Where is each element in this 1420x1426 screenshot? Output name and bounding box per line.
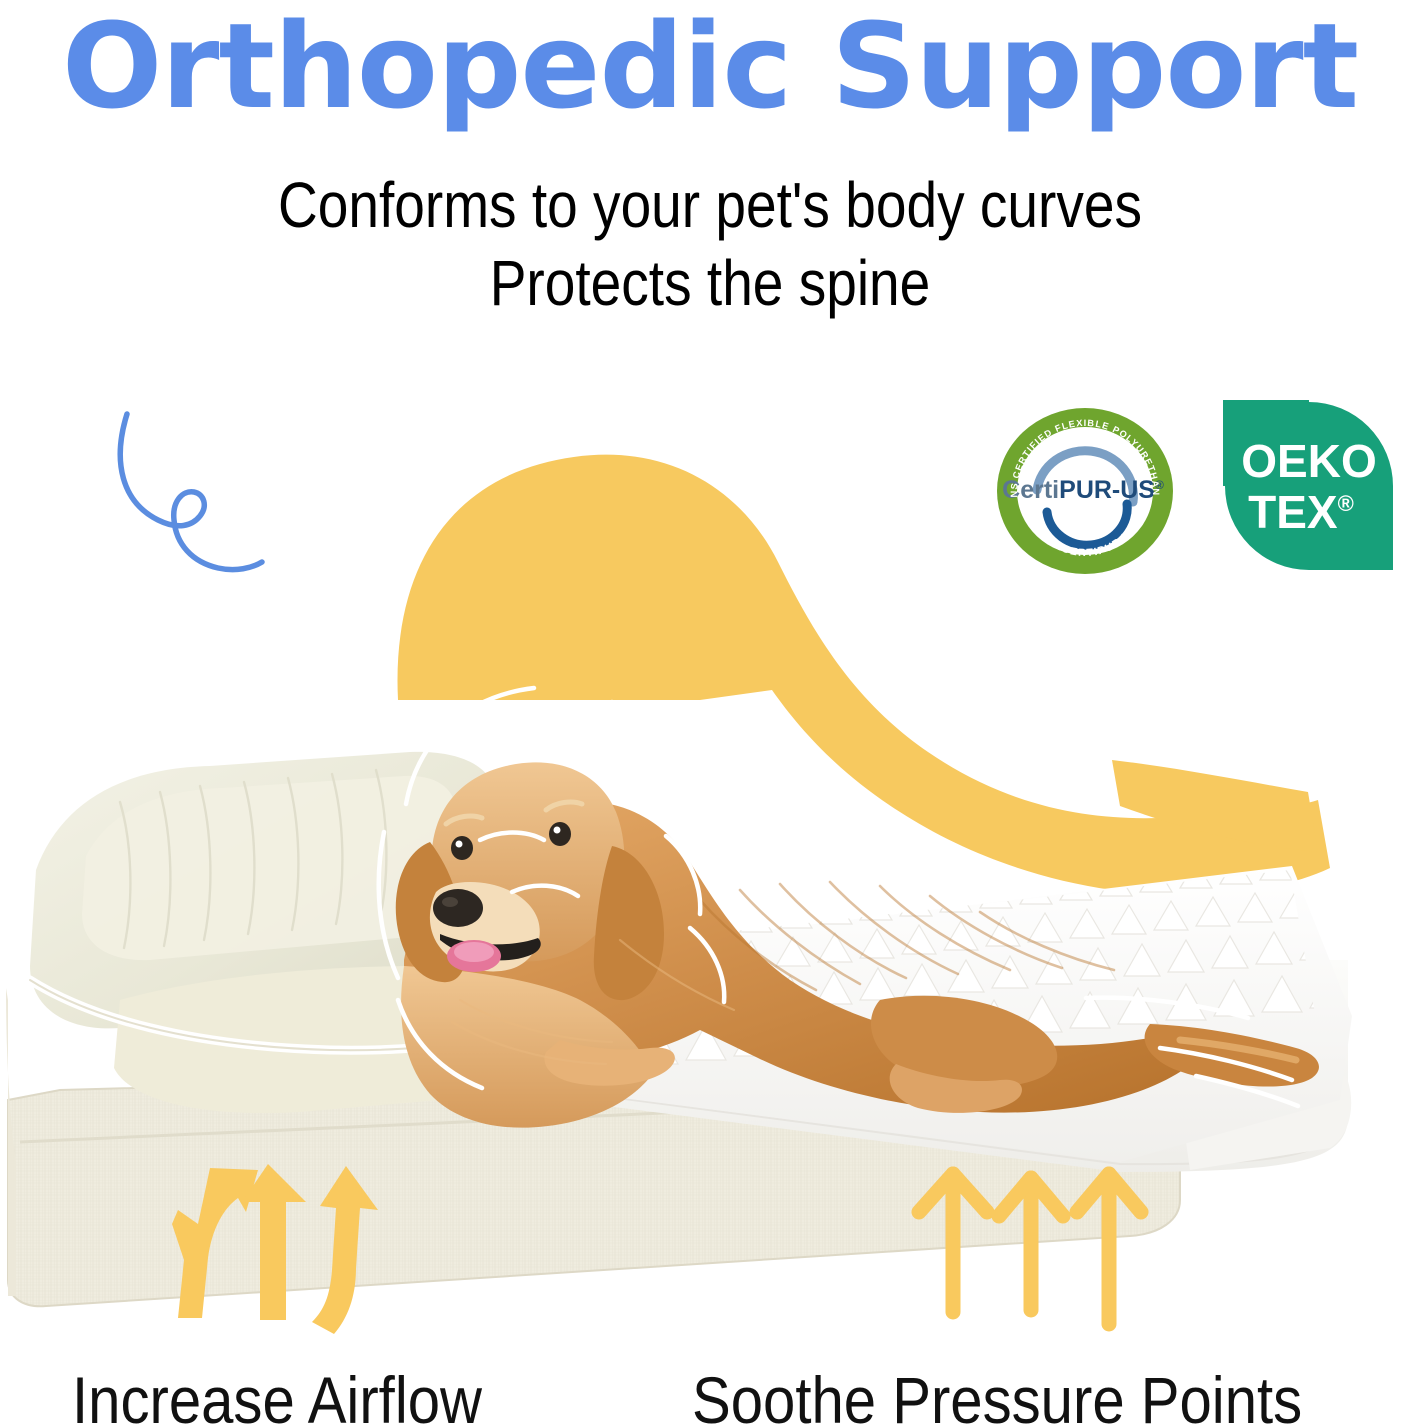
caption-increase-airflow: Increase Airflow [72,1362,482,1426]
subheading-1: Conforms to your pet's body curves [99,168,1320,242]
page-title: Orthopedic Support [0,6,1420,126]
airflow-arrows-icon [150,1150,430,1350]
subheading-2: Protects the spine [99,246,1320,320]
caption-soothe-pressure-points: Soothe Pressure Points [692,1362,1302,1426]
feature-graphic: Orthopedic Support Conforms to your pet'… [0,0,1420,1426]
pressure-arrows-icon [905,1160,1155,1355]
